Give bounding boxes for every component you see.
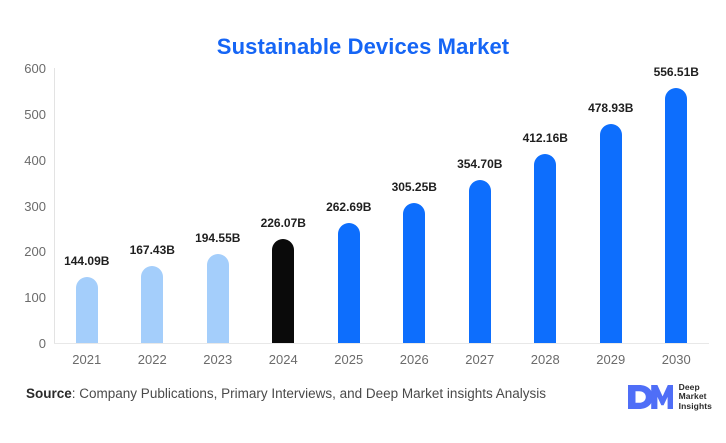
x-axis-tick: 2021: [54, 353, 120, 366]
x-axis-tick: 2030: [644, 353, 710, 366]
source-note: Source: Company Publications, Primary In…: [26, 386, 546, 402]
dm-logo-icon: [627, 384, 673, 410]
bar[interactable]: [600, 124, 622, 344]
x-axis-tick: 2027: [447, 353, 513, 366]
brand-line-3: Insights: [679, 402, 712, 412]
bar-slot: 167.43B: [120, 68, 186, 343]
bar[interactable]: [665, 88, 687, 343]
y-axis-tick: 200: [0, 245, 46, 258]
x-axis-tick: 2022: [120, 353, 186, 366]
x-axis-tick: 2028: [513, 353, 579, 366]
bar[interactable]: [76, 277, 98, 343]
chart-card: Sustainable Devices Market 6005004003002…: [0, 0, 726, 443]
bar[interactable]: [469, 180, 491, 343]
bar-value-label: 412.16B: [523, 132, 568, 144]
brand-logo: Deep Market Insights: [627, 378, 712, 416]
bar-value-label: 556.51B: [654, 66, 699, 78]
y-axis-tick: 500: [0, 108, 46, 121]
bar[interactable]: [207, 254, 229, 343]
brand-wordmark: Deep Market Insights: [679, 383, 712, 412]
bar-slot: 262.69B: [316, 68, 382, 343]
bar-slot: 412.16B: [513, 68, 579, 343]
bar[interactable]: [338, 223, 360, 343]
bar-slot: 305.25B: [382, 68, 448, 343]
x-axis-tick: 2023: [185, 353, 251, 366]
chart-title: Sustainable Devices Market: [0, 34, 726, 60]
bar[interactable]: [534, 154, 556, 343]
bar-slot: 478.93B: [578, 68, 644, 343]
source-label: Source: [26, 386, 72, 401]
bar[interactable]: [403, 203, 425, 343]
source-value: : Company Publications, Primary Intervie…: [72, 386, 546, 401]
bar-value-label: 167.43B: [130, 244, 175, 256]
x-axis-tick: 2024: [251, 353, 317, 366]
bar-slot: 144.09B: [54, 68, 120, 343]
bar-value-label: 194.55B: [195, 232, 240, 244]
bar-slot: 556.51B: [644, 68, 710, 343]
bar-slot: 226.07B: [251, 68, 317, 343]
bar-slot: 354.70B: [447, 68, 513, 343]
x-axis-tick: 2026: [382, 353, 448, 366]
bar[interactable]: [141, 266, 163, 343]
bar-value-label: 305.25B: [392, 181, 437, 193]
plot-area: 6005004003002001000 144.09B167.43B194.55…: [54, 68, 709, 343]
bar-value-label: 226.07B: [261, 217, 306, 229]
bar-value-label: 144.09B: [64, 255, 109, 267]
x-axis-tick: 2025: [316, 353, 382, 366]
bar-value-label: 262.69B: [326, 201, 371, 213]
y-axis-tick: 300: [0, 200, 46, 213]
bar-slot: 194.55B: [185, 68, 251, 343]
y-axis-tick: 600: [0, 62, 46, 75]
x-axis-tick: 2029: [578, 353, 644, 366]
y-axis-tick: 100: [0, 291, 46, 304]
bar-value-label: 354.70B: [457, 158, 502, 170]
bar-value-label: 478.93B: [588, 102, 633, 114]
y-axis-tick: 400: [0, 154, 46, 167]
bar[interactable]: [272, 239, 294, 343]
x-axis-line: [54, 343, 709, 344]
y-axis-tick: 0: [0, 337, 46, 350]
